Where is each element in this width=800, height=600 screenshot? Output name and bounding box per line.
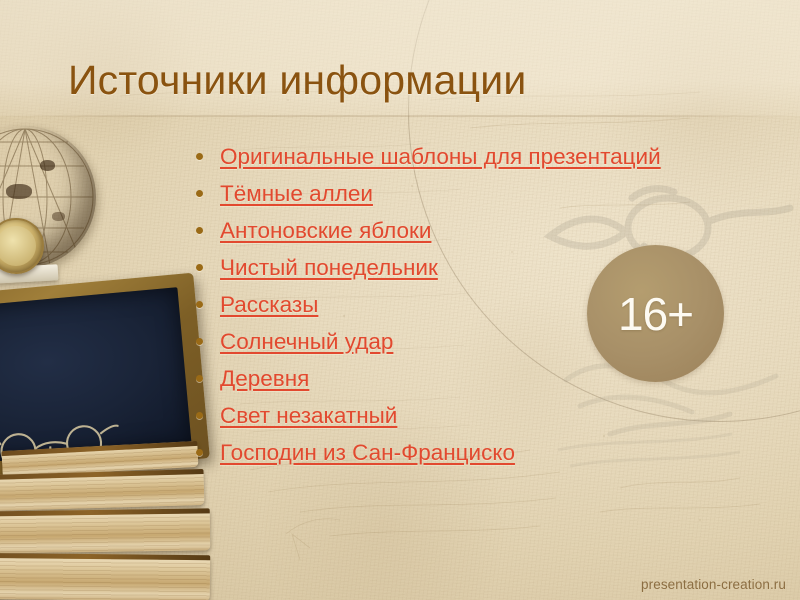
book-item (0, 508, 210, 553)
list-item[interactable]: Оригинальные шаблоны для презентаций (196, 138, 776, 175)
list-item[interactable]: Господин из Сан-Франциско (196, 434, 776, 471)
list-item[interactable]: Деревня (196, 360, 776, 397)
source-link[interactable]: Свет незакатный (220, 403, 397, 429)
list-item[interactable]: Свет незакатный (196, 397, 776, 434)
bullet-dot-icon (196, 375, 203, 382)
list-item[interactable]: Рассказы (196, 286, 776, 323)
bullet-dot-icon (196, 227, 203, 234)
bullet-dot-icon (196, 264, 203, 271)
bullet-dot-icon (196, 338, 203, 345)
watermark: presentation-creation.ru (641, 577, 786, 592)
book-item (0, 469, 204, 511)
presentation-slide: Источники информации (0, 0, 800, 600)
list-item[interactable]: Тёмные аллеи (196, 175, 776, 212)
stack-of-old-books-image (0, 446, 220, 600)
watch-face (0, 226, 36, 266)
sources-list: Оригинальные шаблоны для презентацийТёмн… (196, 138, 776, 471)
list-item[interactable]: Антоновские яблоки (196, 212, 776, 249)
bullet-dot-icon (196, 301, 203, 308)
bullet-dot-icon (196, 449, 203, 456)
source-link[interactable]: Деревня (220, 366, 309, 392)
source-link[interactable]: Антоновские яблоки (220, 218, 431, 244)
bullet-dot-icon (196, 153, 203, 160)
source-link[interactable]: Тёмные аллеи (220, 181, 373, 207)
source-link[interactable]: Рассказы (220, 292, 318, 318)
source-link[interactable]: Господин из Сан-Франциско (220, 440, 515, 466)
source-link[interactable]: Чистый понедельник (220, 255, 438, 281)
source-link[interactable]: Оригинальные шаблоны для презентаций (220, 144, 661, 170)
page-title: Источники информации (68, 53, 526, 107)
list-item[interactable]: Солнечный удар (196, 323, 776, 360)
book-item (0, 553, 210, 600)
bullet-dot-icon (196, 190, 203, 197)
source-link[interactable]: Солнечный удар (220, 329, 393, 355)
bullet-dot-icon (196, 412, 203, 419)
list-item[interactable]: Чистый понедельник (196, 249, 776, 286)
